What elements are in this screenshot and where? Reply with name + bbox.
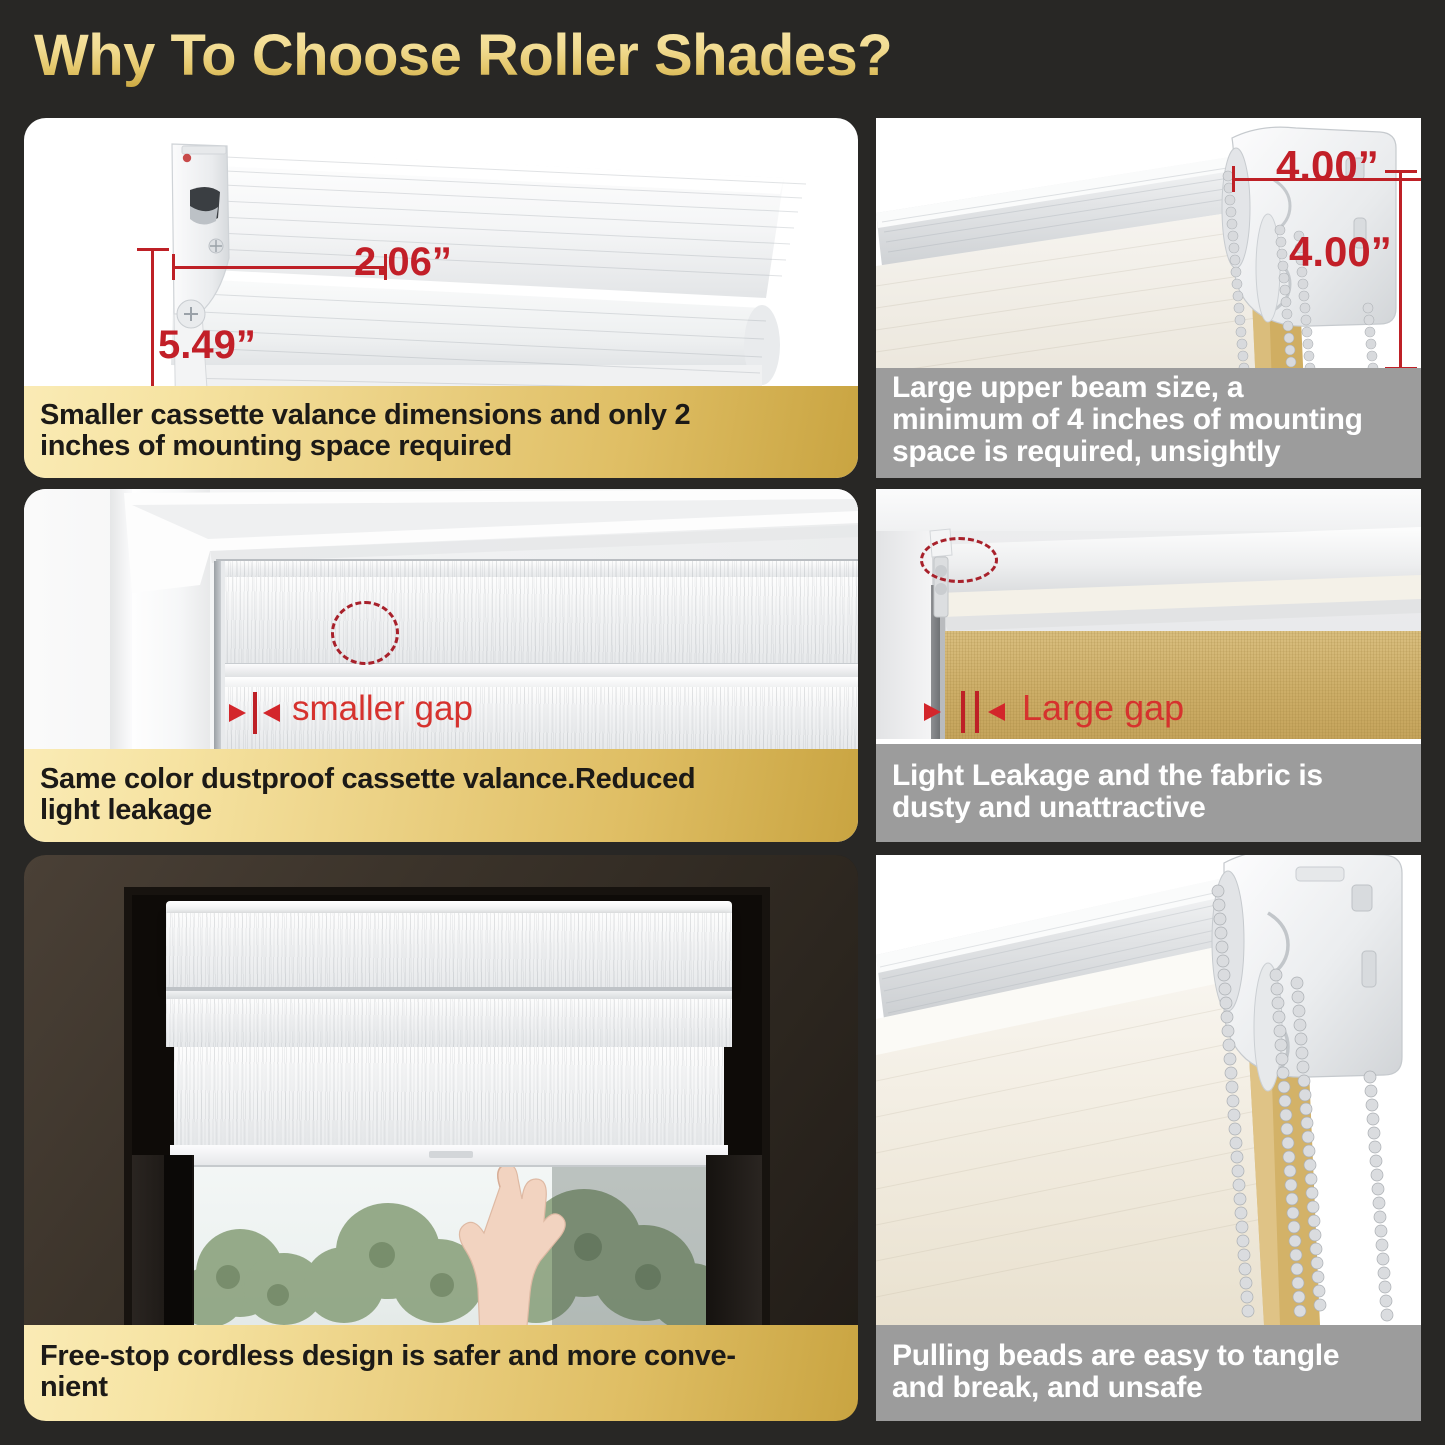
highlight-circle-annotation: [920, 537, 998, 583]
gap-arrow-right: [263, 704, 280, 722]
panel-pulling-beads-caption: Pulling beads are easy to tangle and bre…: [876, 1325, 1421, 1421]
caption-line: nient: [40, 1372, 736, 1403]
gap-marker-line-2: [975, 691, 979, 733]
height-dim-tick-top: [137, 248, 169, 251]
height-dimension-label: 5.49”: [158, 323, 256, 368]
panel-dustproof-valance: smaller gap Same color dustproof cassett…: [24, 489, 858, 842]
caption-line: Smaller cassette valance dimensions and …: [40, 400, 690, 431]
infographic-root: Why To Choose Roller Shades?: [0, 0, 1445, 1445]
beam-height-dim-line: [1399, 170, 1402, 370]
beam-width-label: 4.00”: [1276, 142, 1379, 190]
caption-line: and break, and unsafe: [892, 1372, 1339, 1404]
panel-light-leakage: Large gap Light Leakage and the fabric i…: [876, 489, 1421, 842]
beam-height-label: 4.00”: [1289, 228, 1392, 276]
gap-arrow-right: [988, 703, 1005, 721]
panel-cordless-design-caption: Free-stop cordless design is safer and m…: [24, 1325, 858, 1421]
beam-height-tick-top: [1385, 170, 1417, 173]
beam-width-tick-left: [1232, 166, 1235, 192]
caption-line: dusty and unattractive: [892, 792, 1323, 824]
panel-cordless-design: Free-stop cordless design is safer and m…: [24, 855, 858, 1421]
caption-line: Light Leakage and the fabric is: [892, 760, 1323, 792]
panel-light-leakage-caption: Light Leakage and the fabric is dusty an…: [876, 744, 1421, 842]
gap-marker-line: [961, 691, 965, 733]
gap-label: smaller gap: [292, 689, 473, 729]
panel-large-upper-beam: 4.00” 4.00” Large upper beam size, a min…: [876, 118, 1421, 478]
caption-line: Free-stop cordless design is safer and m…: [40, 1341, 736, 1372]
width-dim-tick-left: [172, 254, 175, 280]
caption-line: Same color dustproof cassette valance.Re…: [40, 764, 695, 795]
caption-line: Large upper beam size, a: [892, 372, 1363, 404]
panel-cassette-valance-caption: Smaller cassette valance dimensions and …: [24, 386, 858, 478]
panel-pulling-beads: Pulling beads are easy to tangle and bre…: [876, 855, 1421, 1421]
gap-arrow-left: [229, 704, 246, 722]
width-dimension-label: 2.06”: [354, 240, 452, 285]
gap-marker-line: [253, 692, 257, 734]
highlight-circle-annotation: [331, 601, 399, 665]
panel-large-upper-beam-caption: Large upper beam size, a minimum of 4 in…: [876, 368, 1421, 478]
caption-line: space is required, unsightly: [892, 436, 1363, 468]
caption-line: Pulling beads are easy to tangle: [892, 1340, 1339, 1372]
gap-arrow-left: [924, 703, 941, 721]
page-title: Why To Choose Roller Shades?: [34, 22, 892, 89]
caption-line: light leakage: [40, 795, 695, 826]
gap-label: Large gap: [1022, 687, 1184, 729]
panel-dustproof-valance-caption: Same color dustproof cassette valance.Re…: [24, 749, 858, 842]
panel-cassette-valance: 5.49” 2.06” Smaller cassette valance dim…: [24, 118, 858, 478]
caption-line: minimum of 4 inches of mounting: [892, 404, 1363, 436]
caption-line: inches of mounting space required: [40, 431, 690, 462]
